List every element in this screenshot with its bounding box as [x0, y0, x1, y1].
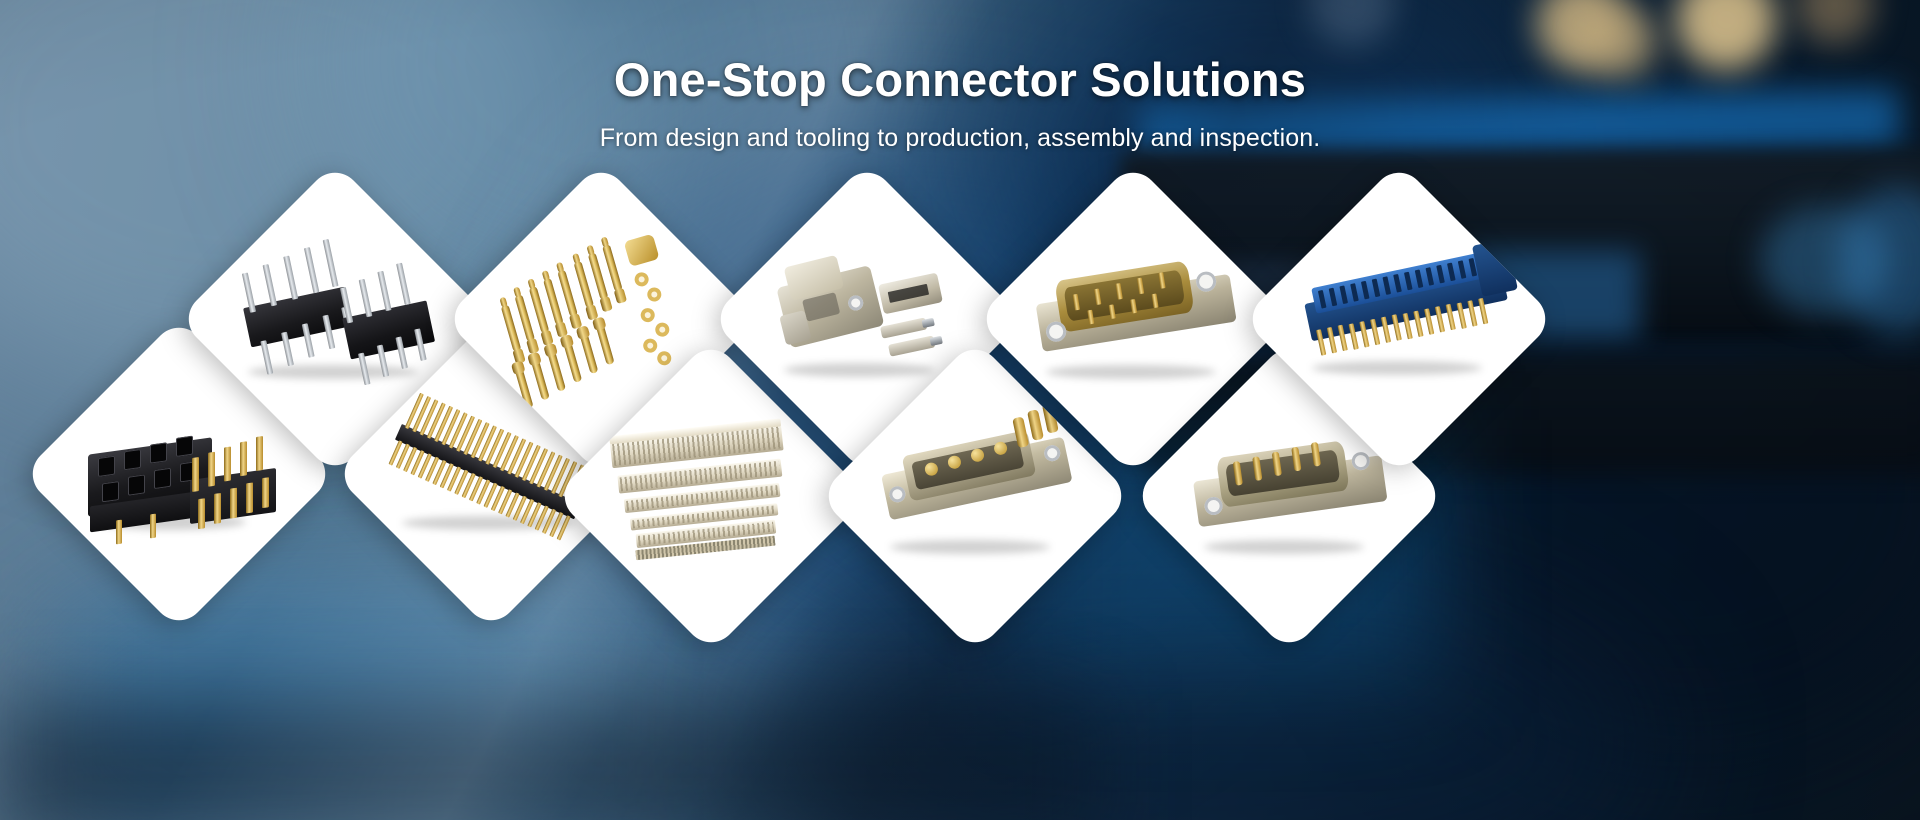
product-image-female-header [72, 394, 287, 554]
connector-detail [600, 236, 609, 247]
connector-detail [499, 297, 508, 308]
connector-detail [586, 245, 595, 256]
banner-subheadline: From design and tooling to production, a… [0, 124, 1920, 153]
banner-text-block: One-Stop Connector Solutions From design… [0, 54, 1920, 153]
connector-detail [513, 287, 522, 298]
connector-detail [645, 286, 662, 303]
connector-detail [655, 350, 672, 367]
product-image-blue-card-edge [1292, 239, 1507, 399]
product-image-pin-header [228, 239, 443, 399]
connector-detail [639, 306, 656, 323]
product-image-din-backplane [604, 416, 819, 576]
banner-headline: One-Stop Connector Solutions [0, 54, 1920, 106]
connector-detail [599, 296, 612, 312]
connector-detail [632, 271, 649, 288]
connector-detail [527, 278, 536, 289]
connector-detail [541, 270, 550, 281]
connector-detail [623, 234, 659, 267]
product-image-gold-dsub [1026, 239, 1241, 399]
hero-banner: One-Stop Connector Solutions From design… [0, 0, 1920, 820]
connector-detail [613, 288, 626, 304]
connector-detail [653, 321, 670, 338]
connector-detail [641, 337, 658, 354]
connector-detail [572, 253, 581, 264]
connector-detail [555, 262, 564, 273]
product-image-power-dsub [868, 416, 1083, 576]
